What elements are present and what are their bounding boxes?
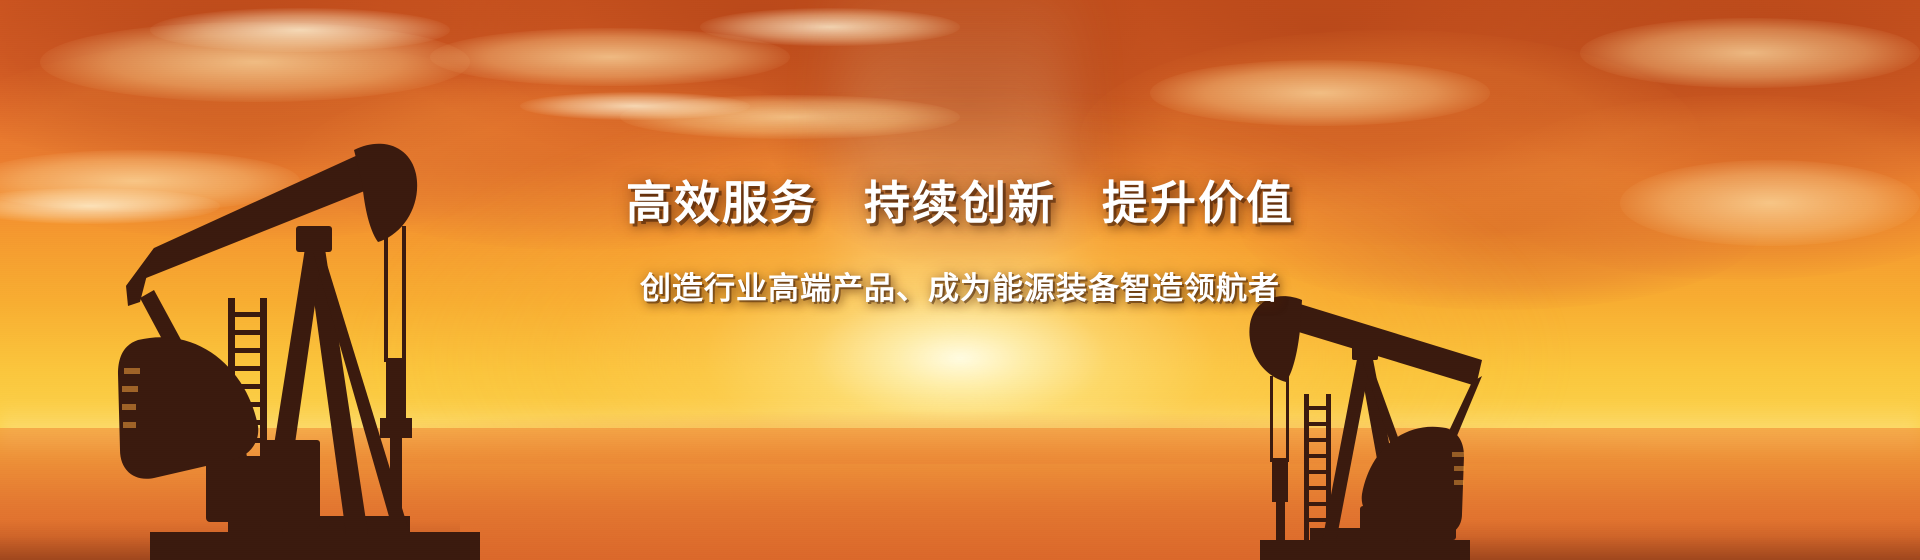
headline-segment-1: 高效服务 — [626, 178, 818, 230]
headline-segment-2: 持续创新 — [864, 178, 1056, 230]
banner-headline: 高效服务持续创新提升价值 — [0, 178, 1920, 230]
headline-segment-3: 提升价值 — [1102, 178, 1294, 230]
banner-copy: 高效服务持续创新提升价值 创造行业高端产品、成为能源装备智造领航者 — [0, 178, 1920, 307]
oil-pumpjack-small — [1240, 290, 1490, 560]
banner-subheadline: 创造行业高端产品、成为能源装备智造领航者 — [0, 230, 1920, 307]
hero-banner: 高效服务持续创新提升价值 创造行业高端产品、成为能源装备智造领航者 — [0, 0, 1920, 560]
